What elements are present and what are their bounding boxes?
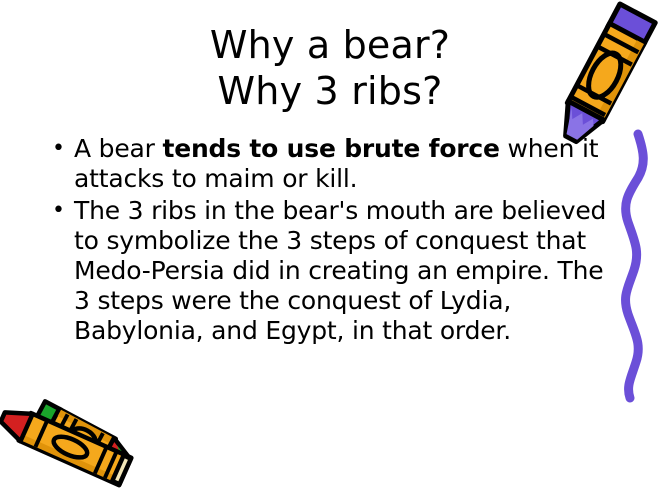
purple-squiggle-icon — [596, 130, 660, 400]
bullet-1-segment-bold: tends to use brute force — [162, 134, 499, 163]
bullet-text-2: The 3 ribs in the bear's mouth are belie… — [74, 196, 608, 346]
bullet-1-segment-plain-a: A bear — [74, 134, 162, 163]
presentation-slide: Why a bear? Why 3 ribs? • A bear tends t… — [0, 0, 660, 495]
bullet-text-1: A bear tends to use brute force when it … — [74, 134, 608, 194]
bullet-marker-icon: • — [48, 196, 74, 226]
slide-body-bullet-list: • A bear tends to use brute force when i… — [48, 134, 608, 348]
list-item: • A bear tends to use brute force when i… — [48, 134, 608, 194]
crossed-crayons-icon — [2, 386, 152, 495]
bullet-marker-icon: • — [48, 134, 74, 164]
list-item: • The 3 ribs in the bear's mouth are bel… — [48, 196, 608, 346]
